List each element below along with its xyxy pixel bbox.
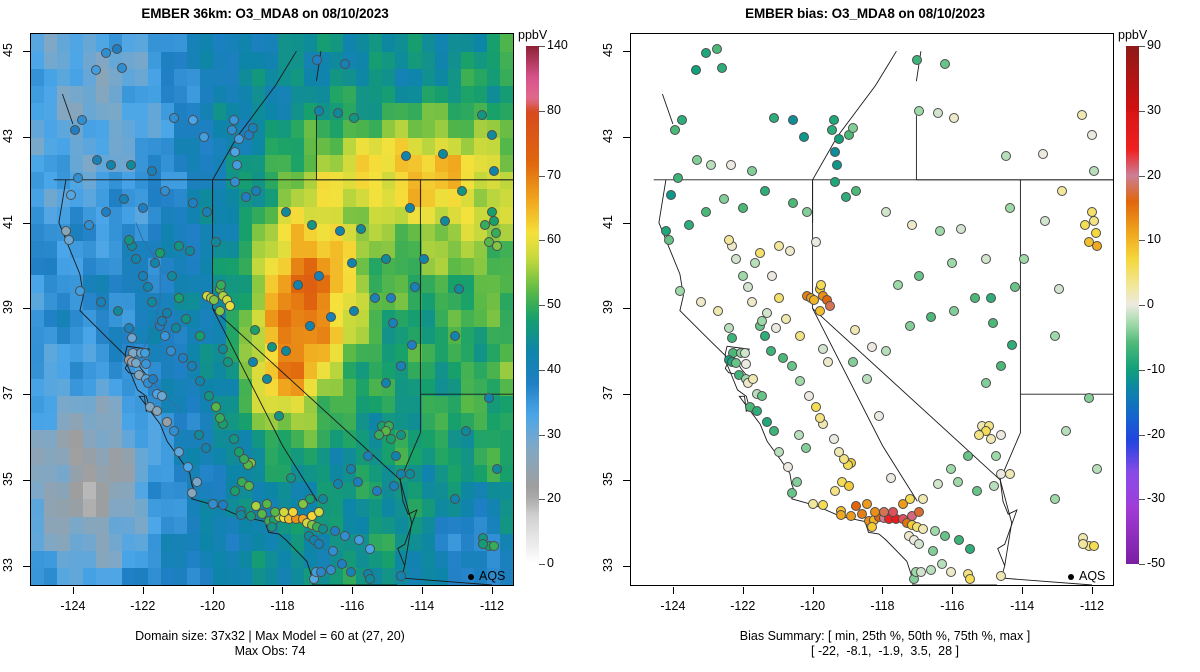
aqs-site-marker[interactable] — [1005, 203, 1015, 213]
aqs-site-marker[interactable] — [949, 306, 959, 316]
x-tick-label: -116 — [934, 599, 970, 613]
aqs-legend-dot — [468, 574, 474, 580]
colorbar-tick-label: 30 — [547, 427, 561, 441]
aqs-site-marker[interactable] — [194, 430, 204, 440]
aqs-site-marker[interactable] — [160, 186, 170, 196]
aqs-site-marker[interactable] — [841, 192, 851, 202]
x-tick-label: -118 — [264, 599, 300, 613]
aqs-site-marker[interactable] — [178, 353, 188, 363]
map-outline — [631, 34, 1113, 585]
aqs-site-marker[interactable] — [388, 318, 398, 328]
aqs-site-marker[interactable] — [862, 374, 872, 384]
y-tick-label: 39 — [1, 295, 15, 319]
aqs-site-marker[interactable] — [874, 411, 884, 421]
colorbar-tick-label: 70 — [547, 168, 561, 182]
colorbar-tick — [1139, 564, 1145, 565]
aqs-site-marker[interactable] — [211, 237, 221, 247]
colorbar-tick-label: 30 — [1147, 103, 1161, 117]
colorbar-tick-label: 60 — [547, 232, 561, 246]
aqs-site-marker[interactable] — [199, 132, 209, 142]
aqs-site-marker[interactable] — [84, 220, 94, 230]
aqs-site-marker[interactable] — [886, 473, 896, 483]
aqs-legend-label-bias: AQS — [1079, 569, 1105, 583]
y-tick — [23, 51, 30, 52]
aqs-site-marker[interactable] — [349, 113, 359, 123]
colorbar-tick — [539, 564, 545, 565]
aqs-site-marker[interactable] — [940, 531, 950, 541]
x-tick — [882, 587, 883, 594]
colorbar-tick — [539, 46, 545, 47]
aqs-site-marker[interactable] — [440, 216, 450, 226]
aqs-site-marker[interactable] — [815, 413, 825, 423]
y-tick-label: 39 — [601, 295, 615, 319]
aqs-site-marker[interactable] — [946, 464, 956, 474]
aqs-site-marker[interactable] — [724, 323, 734, 333]
x-tick — [813, 587, 814, 594]
aqs-site-marker[interactable] — [918, 494, 928, 504]
aqs-site-marker[interactable] — [229, 434, 239, 444]
aqs-site-marker[interactable] — [73, 173, 83, 183]
aqs-site-marker[interactable] — [419, 254, 429, 264]
aqs-site-marker[interactable] — [937, 559, 947, 569]
aqs-site-marker[interactable] — [970, 293, 980, 303]
aqs-site-marker[interactable] — [248, 357, 258, 367]
boundary-line — [813, 51, 897, 180]
aqs-site-marker[interactable] — [169, 113, 179, 123]
aqs-site-marker[interactable] — [986, 434, 996, 444]
aqs-site-marker[interactable] — [131, 254, 141, 264]
x-tick — [352, 587, 353, 594]
left-footer-line1: Domain size: 37x32 | Max Model = 60 at (… — [0, 629, 550, 644]
aqs-site-marker[interactable] — [293, 280, 303, 290]
aqs-site-marker[interactable] — [769, 113, 779, 123]
colorbar-tick-label: -10 — [1147, 362, 1165, 376]
aqs-site-marker[interactable] — [949, 113, 959, 123]
aqs-site-marker[interactable] — [785, 246, 795, 256]
aqs-site-marker[interactable] — [349, 306, 359, 316]
left-colorbar[interactable] — [526, 46, 539, 564]
colorbar-tick-label: 20 — [547, 491, 561, 505]
aqs-site-marker[interactable] — [794, 430, 804, 440]
aqs-site-marker[interactable] — [1007, 340, 1017, 350]
aqs-site-marker[interactable] — [712, 44, 722, 54]
y-tick-label: 35 — [1, 467, 15, 491]
colorbar-tick — [1139, 435, 1145, 436]
aqs-site-marker[interactable] — [381, 254, 391, 264]
x-tick — [743, 587, 744, 594]
y-tick — [623, 137, 630, 138]
aqs-site-marker[interactable] — [905, 321, 915, 331]
aqs-site-marker[interactable] — [215, 413, 225, 423]
colorbar-tick-label: 0 — [547, 556, 554, 570]
aqs-site-marker[interactable] — [881, 207, 891, 217]
colorbar-tick — [539, 435, 545, 436]
aqs-site-marker[interactable] — [1057, 186, 1067, 196]
aqs-site-marker[interactable] — [696, 297, 706, 307]
boundary-line — [62, 94, 73, 124]
colorbar-tick-label: 40 — [547, 362, 561, 376]
y-tick-label: 41 — [1, 210, 15, 234]
aqs-site-marker[interactable] — [487, 130, 497, 140]
y-tick-label: 43 — [1, 124, 15, 148]
aqs-site-marker[interactable] — [274, 411, 284, 421]
aqs-site-marker[interactable] — [147, 166, 157, 176]
aqs-site-marker[interactable] — [113, 306, 123, 316]
aqs-site-marker[interactable] — [262, 499, 272, 509]
right-colorbar[interactable] — [1126, 46, 1139, 564]
y-tick-label: 33 — [1, 553, 15, 577]
aqs-site-marker[interactable] — [365, 544, 375, 554]
colorbar-tick — [1139, 305, 1145, 306]
left-panel-title: EMBER 36km: O3_MDA8 on 08/10/2023 — [0, 6, 530, 21]
aqs-site-marker[interactable] — [143, 282, 153, 292]
aqs-site-marker[interactable] — [187, 488, 197, 498]
aqs-site-marker[interactable] — [888, 507, 898, 517]
colorbar-tick — [1139, 46, 1145, 47]
aqs-site-marker[interactable] — [1054, 284, 1064, 294]
x-tick — [1022, 587, 1023, 594]
aqs-site-marker[interactable] — [829, 115, 839, 125]
aqs-site-marker[interactable] — [215, 306, 225, 316]
aqs-site-marker[interactable] — [405, 203, 415, 213]
x-tick — [213, 587, 214, 594]
aqs-site-marker[interactable] — [286, 473, 296, 483]
aqs-site-marker[interactable] — [169, 426, 179, 436]
colorbar-tick-label: 10 — [1147, 232, 1161, 246]
y-tick-label: 35 — [601, 467, 615, 491]
colorbar-tick-label: 80 — [547, 103, 561, 117]
aqs-site-marker[interactable] — [830, 486, 840, 496]
left-map-area[interactable] — [31, 34, 513, 585]
aqs-site-marker[interactable] — [713, 306, 723, 316]
aqs-site-marker[interactable] — [946, 567, 956, 577]
aqs-site-marker[interactable] — [673, 173, 683, 183]
aqs-site-marker[interactable] — [740, 348, 750, 358]
aqs-site-marker[interactable] — [234, 134, 244, 144]
x-tick — [1092, 587, 1093, 594]
aqs-site-marker[interactable] — [928, 546, 938, 556]
aqs-site-marker[interactable] — [701, 207, 711, 217]
right-map-area[interactable] — [631, 34, 1113, 585]
aqs-site-marker[interactable] — [731, 254, 741, 264]
aqs-site-marker[interactable] — [862, 499, 872, 509]
aqs-site-marker[interactable] — [101, 207, 111, 217]
aqs-site-marker[interactable] — [491, 228, 501, 238]
colorbar-tick — [1139, 370, 1145, 371]
aqs-site-marker[interactable] — [288, 507, 298, 517]
aqs-site-marker[interactable] — [953, 477, 963, 487]
aqs-site-marker[interactable] — [738, 203, 748, 213]
aqs-site-marker[interactable] — [187, 361, 197, 371]
aqs-site-marker[interactable] — [738, 271, 748, 281]
aqs-site-marker[interactable] — [162, 308, 172, 318]
y-tick — [623, 308, 630, 309]
aqs-site-marker[interactable] — [251, 501, 261, 511]
aqs-site-marker[interactable] — [119, 194, 129, 204]
aqs-site-marker[interactable] — [192, 477, 202, 487]
y-tick — [23, 137, 30, 138]
colorbar-tick-label: -20 — [1147, 427, 1165, 441]
y-tick-label: 45 — [601, 38, 615, 62]
boundary-line — [813, 308, 918, 501]
y-tick — [623, 394, 630, 395]
y-tick-label: 45 — [1, 38, 15, 62]
aqs-site-marker[interactable] — [666, 190, 676, 200]
aqs-site-marker[interactable] — [407, 340, 417, 350]
aqs-site-marker[interactable] — [747, 297, 757, 307]
x-tick-label: -118 — [864, 599, 900, 613]
aqs-site-marker[interactable] — [138, 203, 148, 213]
aqs-site-marker[interactable] — [787, 488, 797, 498]
y-tick-label: 43 — [601, 124, 615, 148]
x-tick-label: -116 — [334, 599, 370, 613]
aqs-site-marker[interactable] — [374, 430, 384, 440]
colorbar-tick — [539, 176, 545, 177]
aqs-site-marker[interactable] — [1091, 228, 1101, 238]
x-tick — [282, 587, 283, 594]
y-tick — [623, 566, 630, 567]
aqs-site-marker[interactable] — [811, 237, 821, 247]
left-footer-line2: Max Obs: 74 — [0, 644, 550, 659]
colorbar-tick — [539, 305, 545, 306]
x-tick — [422, 587, 423, 594]
colorbar-tick-label: -50 — [1147, 556, 1165, 570]
aqs-site-marker[interactable] — [340, 531, 350, 541]
aqs-site-marker[interactable] — [166, 346, 176, 356]
aqs-legend-dot-bias — [1068, 574, 1074, 580]
aqs-site-marker[interactable] — [1019, 254, 1029, 264]
aqs-site-marker[interactable] — [771, 323, 781, 333]
aqs-site-marker[interactable] — [171, 323, 181, 333]
aqs-site-marker[interactable] — [986, 293, 996, 303]
bias-panel: EMBER bias: O3_MDA8 on 08/10/2023 ppbV -… — [600, 0, 1200, 672]
aqs-site-marker[interactable] — [834, 134, 844, 144]
aqs-site-marker[interactable] — [232, 160, 242, 170]
boundary-line — [213, 308, 318, 501]
colorbar-tick — [539, 499, 545, 500]
boundary-line — [397, 480, 417, 579]
y-tick — [23, 394, 30, 395]
aqs-site-marker[interactable] — [454, 284, 464, 294]
aqs-site-marker[interactable] — [316, 567, 326, 577]
aqs-site-marker[interactable] — [974, 430, 984, 440]
aqs-site-marker[interactable] — [381, 378, 391, 388]
aqs-site-marker[interactable] — [818, 500, 828, 510]
colorbar-tick — [539, 111, 545, 112]
aqs-site-marker[interactable] — [241, 192, 251, 202]
aqs-site-marker[interactable] — [208, 499, 218, 509]
y-tick — [23, 566, 30, 567]
aqs-site-marker[interactable] — [353, 477, 363, 487]
aqs-site-marker[interactable] — [762, 308, 772, 318]
aqs-site-marker[interactable] — [1040, 216, 1050, 226]
y-tick-label: 37 — [1, 381, 15, 405]
aqs-site-marker[interactable] — [281, 207, 291, 217]
boundary-line — [397, 578, 492, 585]
aqs-site-marker[interactable] — [230, 486, 240, 496]
aqs-site-marker[interactable] — [147, 297, 157, 307]
aqs-site-marker[interactable] — [1089, 166, 1099, 176]
aqs-site-marker[interactable] — [386, 434, 396, 444]
colorbar-tick-label: 90 — [1147, 38, 1161, 52]
aqs-site-marker[interactable] — [124, 235, 134, 245]
aqs-site-marker[interactable] — [185, 246, 195, 256]
aqs-site-marker[interactable] — [318, 524, 328, 534]
y-tick — [623, 223, 630, 224]
aqs-site-marker[interactable] — [719, 194, 729, 204]
aqs-site-marker[interactable] — [972, 486, 982, 496]
x-tick — [143, 587, 144, 594]
aqs-site-marker[interactable] — [981, 378, 991, 388]
right-footer-line1: Bias Summary: [ min, 25th %, 50th %, 75t… — [605, 629, 1165, 644]
aqs-site-marker[interactable] — [112, 44, 122, 54]
aqs-site-marker[interactable] — [760, 186, 770, 196]
aqs-site-marker[interactable] — [1061, 426, 1071, 436]
colorbar-tick — [1139, 499, 1145, 500]
aqs-site-marker[interactable] — [684, 220, 694, 230]
aqs-site-marker[interactable] — [769, 426, 779, 436]
aqs-site-marker[interactable] — [766, 346, 776, 356]
map-outline — [31, 34, 513, 585]
boundary-line — [997, 480, 1017, 579]
aqs-site-marker[interactable] — [66, 190, 76, 200]
model-panel: EMBER 36km: O3_MDA8 on 08/10/2023 ppbV 0… — [0, 0, 600, 672]
aqs-site-marker[interactable] — [743, 282, 753, 292]
colorbar-tick-label: -30 — [1147, 491, 1165, 505]
x-tick-label: -124 — [655, 599, 691, 613]
aqs-site-marker[interactable] — [77, 115, 87, 125]
y-tick — [623, 480, 630, 481]
aqs-site-marker[interactable] — [305, 321, 315, 331]
colorbar-tick-label: 0 — [1147, 297, 1154, 311]
aqs-site-marker[interactable] — [851, 501, 861, 511]
aqs-site-marker[interactable] — [370, 293, 380, 303]
aqs-site-marker[interactable] — [126, 160, 136, 170]
boundary-line — [997, 578, 1092, 585]
boundary-line — [662, 94, 673, 124]
colorbar-tick — [539, 370, 545, 371]
aqs-site-marker[interactable] — [801, 443, 811, 453]
aqs-site-marker[interactable] — [893, 280, 903, 290]
y-tick — [23, 480, 30, 481]
aqs-site-marker[interactable] — [201, 443, 211, 453]
aqs-site-marker[interactable] — [262, 374, 272, 384]
aqs-site-marker[interactable] — [792, 477, 802, 487]
aqs-site-marker[interactable] — [234, 447, 244, 457]
aqs-site-marker[interactable] — [918, 524, 928, 534]
aqs-site-marker[interactable] — [307, 220, 317, 230]
aqs-site-marker[interactable] — [155, 248, 165, 258]
colorbar-tick-label: 50 — [547, 297, 561, 311]
aqs-site-marker[interactable] — [372, 486, 382, 496]
aqs-site-marker[interactable] — [346, 567, 356, 577]
aqs-site-marker[interactable] — [1089, 216, 1099, 226]
aqs-site-marker[interactable] — [799, 132, 809, 142]
y-tick — [623, 51, 630, 52]
aqs-site-marker[interactable] — [124, 323, 134, 333]
y-tick-label: 33 — [601, 553, 615, 577]
x-tick-label: -112 — [474, 599, 510, 613]
right-panel-title: EMBER bias: O3_MDA8 on 08/10/2023 — [600, 6, 1130, 21]
aqs-site-marker[interactable] — [787, 361, 797, 371]
aqs-site-marker[interactable] — [981, 254, 991, 264]
aqs-site-marker[interactable] — [848, 357, 858, 367]
aqs-site-marker[interactable] — [965, 544, 975, 554]
aqs-site-marker[interactable] — [850, 325, 860, 335]
aqs-site-marker[interactable] — [337, 559, 347, 569]
x-tick-label: -114 — [404, 599, 440, 613]
aqs-site-marker[interactable] — [988, 318, 998, 328]
x-tick — [492, 587, 493, 594]
aqs-site-marker[interactable] — [747, 166, 757, 176]
aqs-site-marker[interactable] — [867, 342, 877, 352]
aqs-site-marker[interactable] — [328, 546, 338, 556]
aqs-site-marker[interactable] — [251, 186, 261, 196]
aqs-site-marker[interactable] — [1087, 130, 1097, 140]
x-tick-label: -120 — [195, 599, 231, 613]
aqs-site-marker[interactable] — [386, 293, 396, 303]
aqs-site-marker[interactable] — [916, 567, 926, 577]
aqs-site-marker[interactable] — [726, 160, 736, 170]
aqs-site-marker[interactable] — [829, 434, 839, 444]
aqs-site-marker[interactable] — [808, 499, 818, 509]
x-tick-label: -120 — [795, 599, 831, 613]
aqs-site-marker[interactable] — [140, 348, 150, 358]
y-tick-label: 37 — [601, 381, 615, 405]
aqs-site-marker[interactable] — [318, 494, 328, 504]
x-tick — [673, 587, 674, 594]
aqs-site-marker[interactable] — [815, 306, 825, 316]
right-colorbar-title: ppbV — [1118, 28, 1147, 42]
x-tick-label: -114 — [1004, 599, 1040, 613]
right-footer-line2: [ -22, -8.1, -1.9, 3.5, 28 ] — [605, 644, 1165, 659]
aqs-site-marker[interactable] — [457, 186, 467, 196]
aqs-site-marker[interactable] — [489, 216, 499, 226]
colorbar-tick — [1139, 240, 1145, 241]
aqs-site-marker[interactable] — [229, 115, 239, 125]
aqs-legend-label: AQS — [479, 569, 505, 583]
aqs-site-marker[interactable] — [778, 353, 788, 363]
y-tick-label: 41 — [601, 210, 615, 234]
aqs-site-marker[interactable] — [489, 166, 499, 176]
aqs-site-marker[interactable] — [138, 271, 148, 281]
aqs-site-marker[interactable] — [405, 469, 415, 479]
x-tick-label: -122 — [125, 599, 161, 613]
aqs-site-marker[interactable] — [677, 115, 687, 125]
colorbar-tick-label: 20 — [1147, 168, 1161, 182]
aqs-site-marker[interactable] — [724, 235, 734, 245]
aqs-site-marker[interactable] — [907, 220, 917, 230]
aqs-site-marker[interactable] — [461, 426, 471, 436]
x-tick-label: -122 — [725, 599, 761, 613]
aqs-site-marker[interactable] — [851, 186, 861, 196]
aqs-site-marker[interactable] — [267, 342, 277, 352]
aqs-site-marker[interactable] — [96, 297, 106, 307]
aqs-site-marker[interactable] — [834, 447, 844, 457]
colorbar-tick — [1139, 176, 1145, 177]
aqs-site-marker[interactable] — [832, 160, 842, 170]
x-tick-label: -124 — [55, 599, 91, 613]
y-tick — [23, 223, 30, 224]
boundary-line — [213, 51, 297, 180]
aqs-site-marker[interactable] — [346, 464, 356, 474]
colorbar-tick — [1139, 111, 1145, 112]
aqs-site-marker[interactable] — [755, 248, 765, 258]
x-tick — [952, 587, 953, 594]
aqs-site-marker[interactable] — [250, 325, 260, 335]
aqs-site-marker[interactable] — [1005, 469, 1015, 479]
aqs-site-marker[interactable] — [218, 500, 228, 510]
